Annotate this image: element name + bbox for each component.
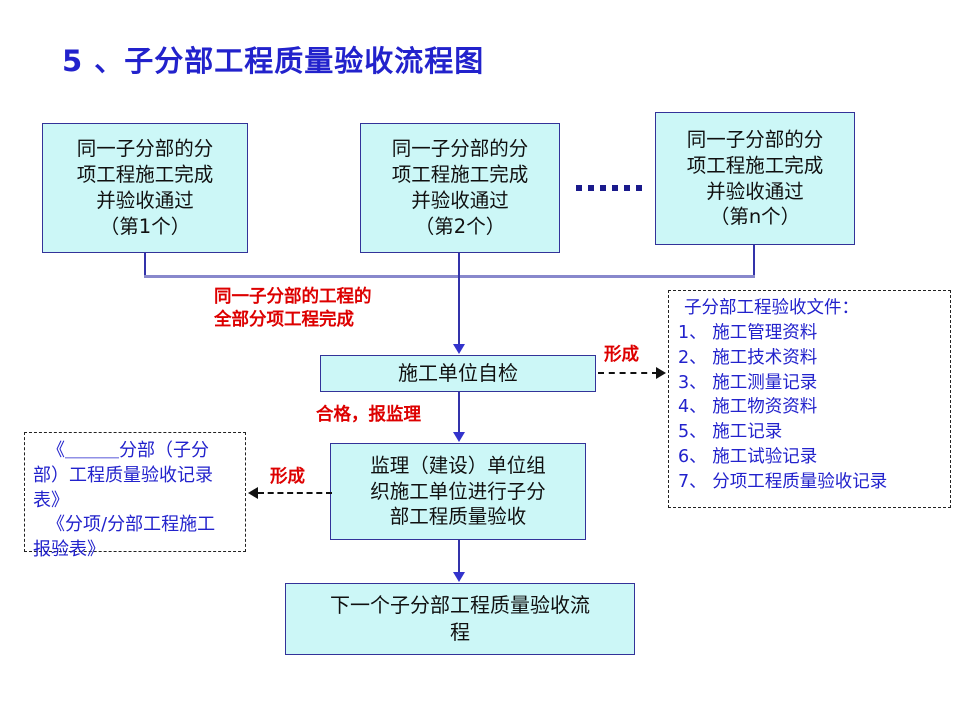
arrow-down-to-self-inspect <box>453 344 465 354</box>
label-all-subitems-complete: 同一子分部的工程的 全部分项工程完成 <box>214 286 372 332</box>
unit-n-line-2: 项工程施工完成 <box>660 153 850 179</box>
connector-unit2-stub <box>458 253 460 277</box>
doc-right-item-5: 5、 施工记录 <box>678 420 941 445</box>
unit-n-line-3: 并验收通过 <box>660 179 850 205</box>
next-process-line-1: 下一个子分部工程质量验收流 <box>290 592 630 619</box>
supervision-line-3: 部工程质量验收 <box>335 504 581 530</box>
unit-n-line-4: （第n个） <box>660 204 850 230</box>
connector-supervision-to-next <box>458 540 460 573</box>
process-box-unit-n[interactable]: 同一子分部的分 项工程施工完成 并验收通过 （第n个） <box>655 112 855 245</box>
doc-left-line-3: 表》 <box>33 489 237 514</box>
self-inspect-label: 施工单位自检 <box>325 360 591 387</box>
connector-unit1-stub <box>144 253 146 277</box>
connector-self-inspect-to-supervision <box>458 392 460 433</box>
doc-right-item-3: 3、 施工测量记录 <box>678 371 941 396</box>
doc-right-list: 1、 施工管理资料 2、 施工技术资料 3、 施工测量记录 4、 施工物资资料 … <box>678 321 941 495</box>
label-form-left: 形成 <box>270 466 305 489</box>
connector-unitn-stub <box>753 245 755 277</box>
label-all-subitems-line-2: 全部分项工程完成 <box>214 309 372 332</box>
supervision-line-2: 织施工单位进行子分 <box>335 479 581 505</box>
doc-right-item-7: 7、 分项工程质量验收记录 <box>678 470 941 495</box>
unit-2-line-3: 并验收通过 <box>365 188 555 214</box>
arrow-left-to-doc-left <box>248 487 258 499</box>
doc-right-header: 子分部工程验收文件： <box>684 296 941 321</box>
doc-right-item-6: 6、 施工试验记录 <box>678 445 941 470</box>
doc-right-item-1: 1、 施工管理资料 <box>678 321 941 346</box>
next-process-line-2: 程 <box>290 619 630 646</box>
arrow-right-to-doc-right <box>656 367 666 379</box>
connector-bus-to-self-inspect <box>458 275 460 345</box>
flowchart-canvas: 5 、子分部工程质量验收流程图 同一子分部的分 项工程施工完成 并验收通过 （第… <box>0 0 960 720</box>
doc-right-item-2: 2、 施工技术资料 <box>678 346 941 371</box>
document-note-left: 《＿＿＿分部（子分 部）工程质量验收记录 表》 《分项/分部工程施工 报验表》 <box>24 432 246 552</box>
process-box-supervision-acceptance[interactable]: 监理（建设）单位组 织施工单位进行子分 部工程质量验收 <box>330 443 586 540</box>
unit-2-line-1: 同一子分部的分 <box>365 136 555 162</box>
doc-right-item-4: 4、 施工物资资料 <box>678 395 941 420</box>
document-note-right: 子分部工程验收文件： 1、 施工管理资料 2、 施工技术资料 3、 施工测量记录… <box>668 290 951 508</box>
unit-1-line-4: （第1个） <box>47 214 243 240</box>
page-title: 5 、子分部工程质量验收流程图 <box>62 38 484 80</box>
doc-left-line-1: 《＿＿＿分部（子分 <box>33 439 237 464</box>
label-pass-report-to-supervisor: 合格，报监理 <box>316 404 421 427</box>
process-box-unit-2[interactable]: 同一子分部的分 项工程施工完成 并验收通过 （第2个） <box>360 123 560 253</box>
process-box-unit-1[interactable]: 同一子分部的分 项工程施工完成 并验收通过 （第1个） <box>42 123 248 253</box>
unit-2-line-2: 项工程施工完成 <box>365 162 555 188</box>
doc-left-line-5: 报验表》 <box>33 538 237 563</box>
process-box-self-inspect[interactable]: 施工单位自检 <box>320 355 596 392</box>
dashed-connector-to-doc-left <box>258 492 332 494</box>
unit-1-line-2: 项工程施工完成 <box>47 162 243 188</box>
arrow-down-to-next-process <box>453 572 465 582</box>
connector-merge-bus <box>144 275 755 278</box>
unit-n-line-1: 同一子分部的分 <box>660 127 850 153</box>
unit-1-line-1: 同一子分部的分 <box>47 136 243 162</box>
doc-left-line-4: 《分项/分部工程施工 <box>33 513 237 538</box>
ellipsis-dots-icon <box>576 185 642 191</box>
unit-2-line-4: （第2个） <box>365 214 555 240</box>
label-form-right: 形成 <box>604 344 639 367</box>
doc-left-line-2: 部）工程质量验收记录 <box>33 464 237 489</box>
label-all-subitems-line-1: 同一子分部的工程的 <box>214 286 372 309</box>
unit-1-line-3: 并验收通过 <box>47 188 243 214</box>
process-box-next-subdivision[interactable]: 下一个子分部工程质量验收流 程 <box>285 583 635 655</box>
dashed-connector-to-doc-right <box>598 372 658 374</box>
arrow-down-to-supervision <box>453 432 465 442</box>
supervision-line-1: 监理（建设）单位组 <box>335 453 581 479</box>
